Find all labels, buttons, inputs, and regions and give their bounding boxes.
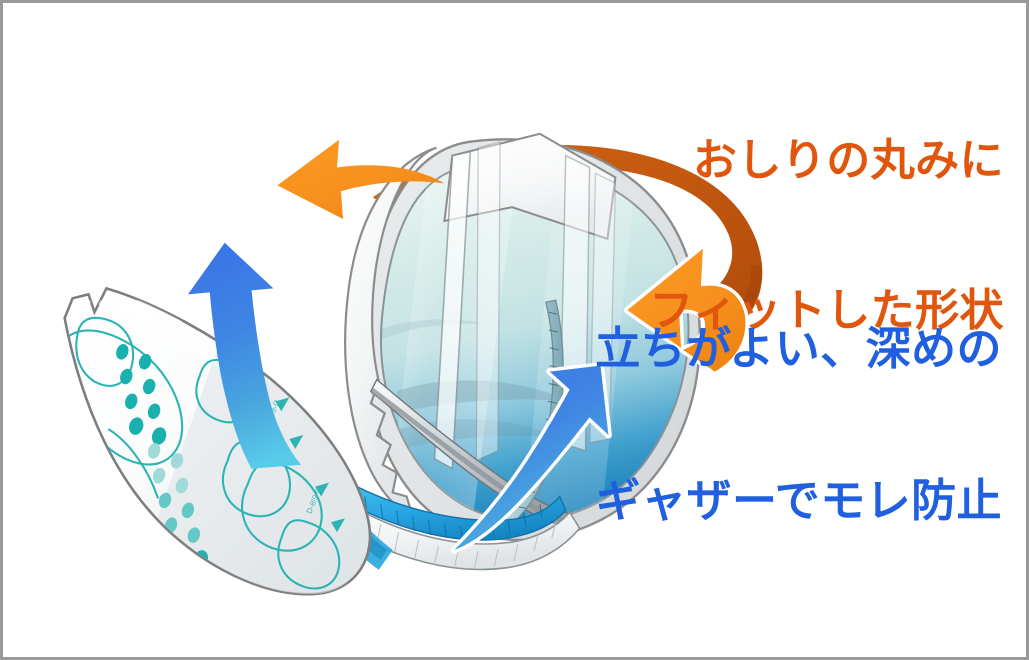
- gather-leak-callout-line-1: 立ちがよい、深めの: [595, 324, 1002, 375]
- illustration-canvas: D-8!9-Ω D-8!9-Ω おしりの丸みに フィットした形状 立ちがよい、深…: [0, 0, 1029, 660]
- gather-leak-callout: 立ちがよい、深めの ギャザーでモレ防止: [595, 222, 1002, 629]
- gather-leak-callout-line-2: ギャザーでモレ防止: [595, 476, 1002, 527]
- seam-strip-left-inner: [476, 142, 500, 461]
- shape-fit-callout-line-1: おしりの丸みに: [649, 136, 1004, 186]
